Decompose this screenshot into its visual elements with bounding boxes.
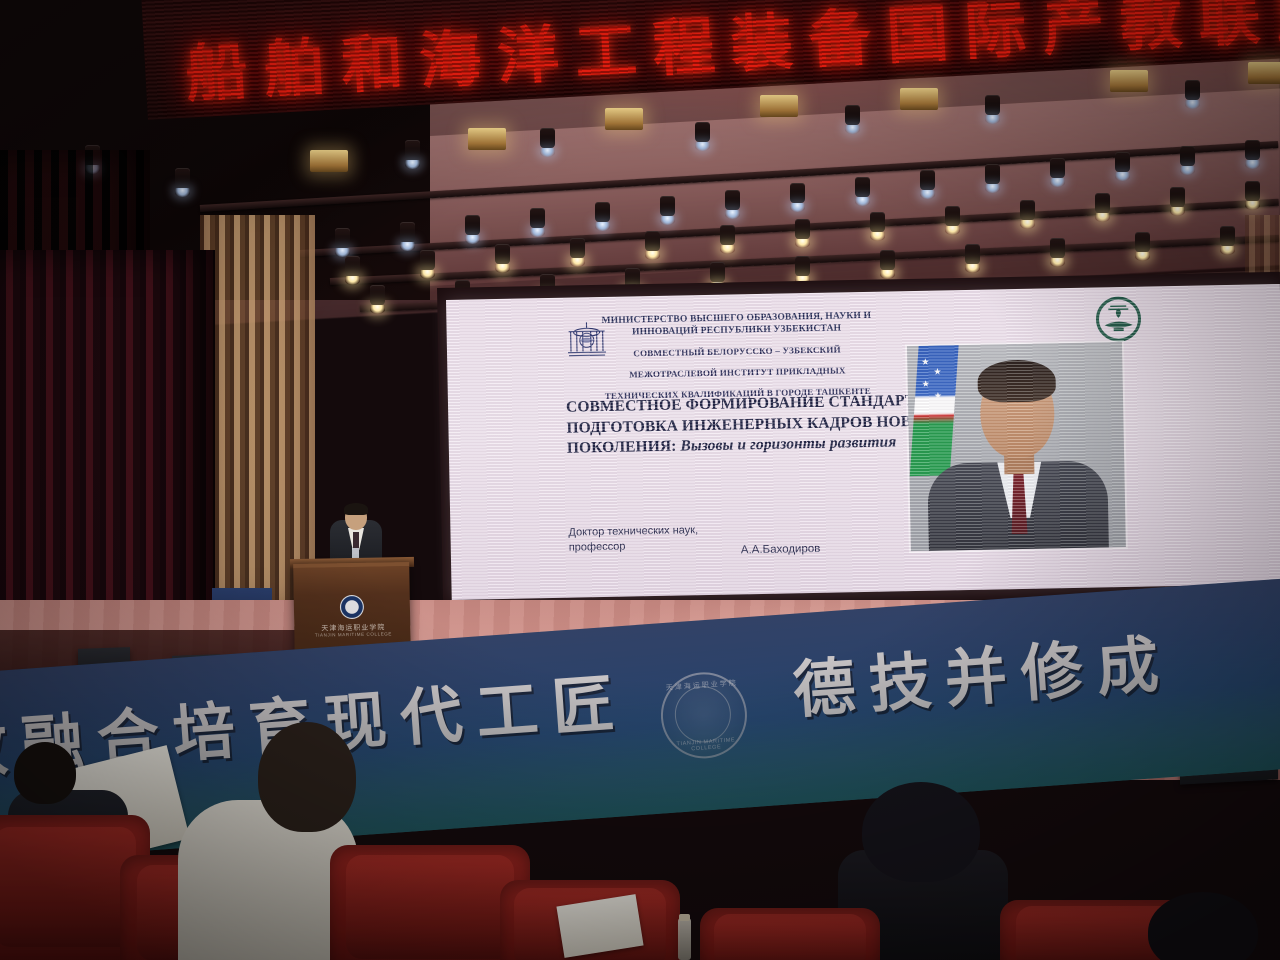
stage-light (405, 140, 420, 169)
attendee-head (258, 722, 356, 832)
stage-light (795, 219, 810, 248)
stage-light (335, 228, 350, 257)
stage-light (945, 206, 960, 235)
presentation-slide: МИНИСТЕРСТВО ВЫСШЕГО ОБРАЗОВАНИЯ, НАУКИ … (446, 284, 1280, 600)
stage-light (695, 122, 710, 151)
stage-light (845, 105, 860, 134)
stage-light (465, 215, 480, 244)
podium-emblem-icon (340, 595, 364, 619)
stage-light-fresnel (605, 108, 643, 130)
stage-light (1220, 226, 1235, 255)
stage-light (345, 256, 360, 285)
presenter-badge (352, 548, 359, 558)
slide-title-line3-prefix: ПОКОЛЕНИЯ: (567, 438, 677, 457)
portrait-hair (977, 359, 1056, 402)
stage-light (370, 285, 385, 314)
speaker-portrait-photo: ★ ★ ★ ★ ★ (907, 342, 1126, 551)
slide-title-line3-italic: Вызовы и горизонты развития (680, 433, 896, 454)
slide-header-block: МИНИСТЕРСТВО ВЫСШЕГО ОБРАЗОВАНИЯ, НАУКИ … (556, 309, 918, 403)
institute-emblem-icon (1094, 295, 1143, 344)
stage-light (1245, 181, 1260, 210)
speaker-role: Доктор технических наук, профессор (568, 522, 769, 556)
stage-light (920, 170, 935, 199)
stage-light (1050, 158, 1065, 187)
attendee-head (862, 782, 980, 882)
stage-light (855, 177, 870, 206)
stage-light (595, 202, 610, 231)
stage-light-fresnel (310, 150, 348, 172)
stage-light (495, 244, 510, 273)
speaker-name: А.А.Баходиров (741, 543, 821, 557)
attendee-head (1148, 892, 1258, 960)
stage-light (175, 168, 190, 197)
conference-hall-photo: 船舶和海洋工程装备国际产教联盟成 (0, 0, 1280, 960)
stage-light-fresnel (760, 95, 798, 117)
stage-light-fresnel (900, 88, 938, 110)
stage-light (1170, 187, 1185, 216)
stage-light-fresnel (468, 128, 506, 150)
stage-light (660, 196, 675, 225)
uzbekistan-flag-icon (910, 345, 959, 476)
attendee-head (14, 742, 76, 804)
bottom-banner-right-text: 德技并修成 (790, 613, 1175, 730)
stage-light (1020, 200, 1035, 229)
stage-light (530, 208, 545, 237)
stage-light (725, 190, 740, 219)
stage-light (1115, 152, 1130, 181)
college-emblem-icon: 天津海运职业学院 TIANJIN MARITIME COLLEGE (658, 669, 750, 761)
stage-light (965, 244, 980, 273)
college-emblem-en: TIANJIN MARITIME COLLEGE (665, 736, 748, 754)
stage-light (1185, 80, 1200, 109)
stage-light (985, 164, 1000, 193)
stage-light (1245, 140, 1260, 169)
stage-light (720, 225, 735, 254)
stage-light (570, 238, 585, 267)
slide-header-line3: СОВМЕСТНЫЙ БЕЛОРУССКО – УЗБЕКСКИЙ (557, 342, 917, 361)
water-bottle (678, 918, 691, 960)
presenter-hair (344, 503, 368, 515)
stage-light (790, 183, 805, 212)
auditorium-seat (700, 908, 880, 960)
stage-light-fresnel (1110, 70, 1148, 92)
stage-light (420, 250, 435, 279)
stage-light (1050, 238, 1065, 267)
stage-light (880, 250, 895, 279)
stage-light (1095, 193, 1110, 222)
stage-light (645, 231, 660, 260)
stage-light (1135, 232, 1150, 261)
podium-college-en: TIANJIN MARITIME COLLEGE (308, 631, 398, 638)
water-bottle-cap (679, 914, 690, 921)
stage-light (870, 212, 885, 241)
slide-header-line4: МЕЖОТРАСЛЕВОЙ ИНСТИТУТ ПРИКЛАДНЫХ (557, 363, 917, 382)
stage-light-fresnel (1248, 62, 1280, 84)
college-emblem-cn: 天津海运职业学院 (661, 678, 744, 694)
stage-light (400, 222, 415, 251)
stage-light (1180, 146, 1195, 175)
stage-light (985, 95, 1000, 124)
speaker-role-line2: профессор (569, 537, 769, 556)
stage-light (540, 128, 555, 157)
